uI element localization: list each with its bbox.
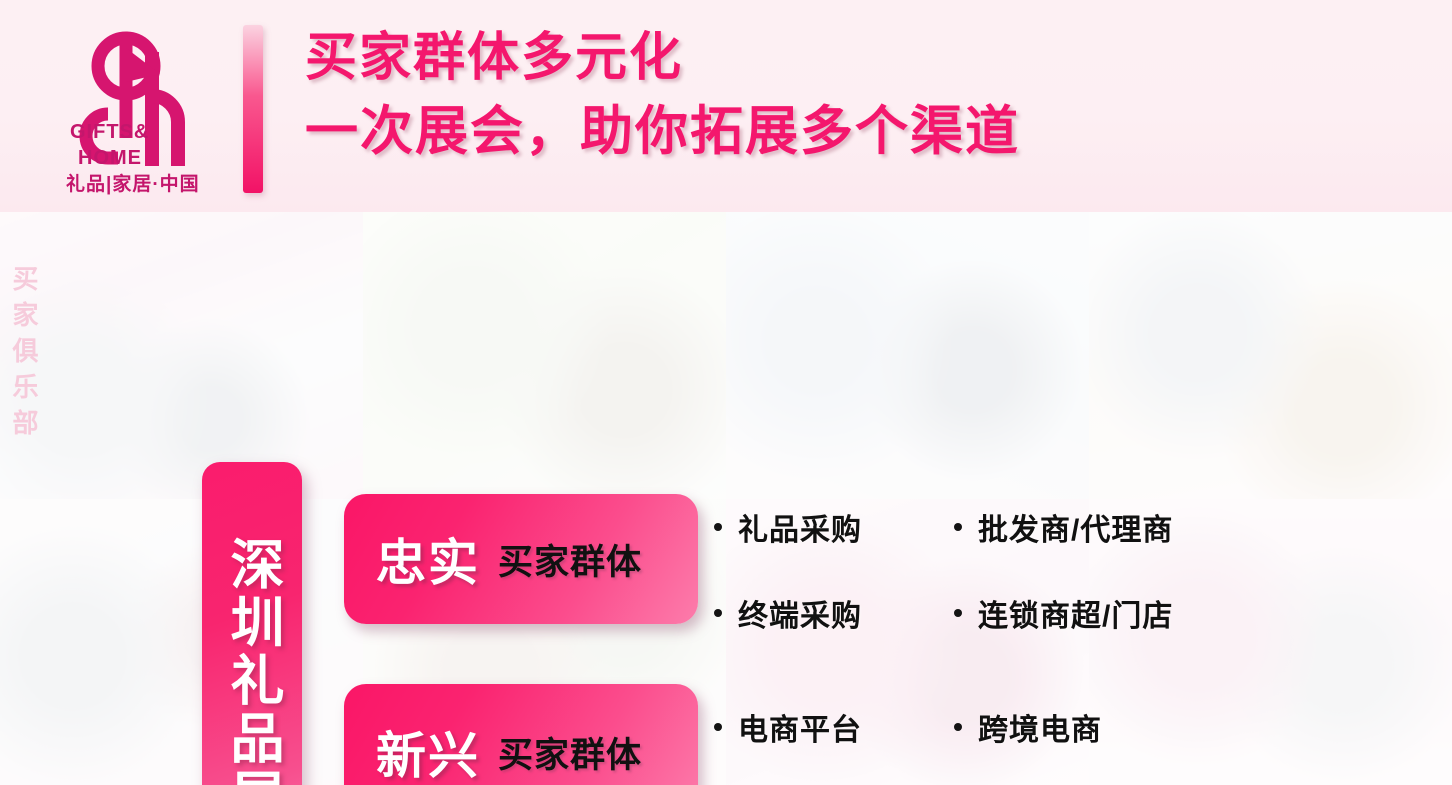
- card-emerging-buyers[interactable]: 新兴 买家群体: [344, 684, 698, 785]
- card-subtitle: 买家群体: [498, 534, 642, 585]
- bullet-item: 终端采购: [714, 591, 954, 635]
- bullet-row: 电商平台 跨境电商: [714, 684, 1214, 770]
- bullet-label: 连锁商超/门店: [978, 591, 1173, 635]
- card-keyword: 忠实: [376, 523, 480, 595]
- logo-text-cn: 礼品|家居·中国: [66, 172, 200, 195]
- bullet-item: 电商平台: [714, 705, 954, 749]
- background-photo-1: [0, 212, 363, 499]
- page-title-line-2: 一次展会，助你拓展多个渠道: [305, 100, 1020, 164]
- header-band: GIFTS& HOME 礼品|家居·中国 买家群体多元化 一次展会，助你拓展多个…: [0, 0, 1452, 212]
- page-title-line-1: 买家群体多元化: [305, 26, 1020, 90]
- card-subtitle: 买家群体: [498, 727, 642, 778]
- bullet-columns: 礼品采购 批发商/代理商 终端采购 连锁商超/门店: [714, 462, 1214, 785]
- card-loyal-buyers[interactable]: 忠实 买家群体: [344, 494, 698, 624]
- bullet-row: 终端采购 连锁商超/门店: [714, 570, 1214, 656]
- bullet-item: 连锁商超/门店: [954, 591, 1214, 635]
- background-banner-text: 买家俱乐部: [16, 230, 50, 480]
- logo-text-home: HOME: [78, 147, 142, 169]
- slide-root: GIFTS& HOME 礼品|家居·中国 买家群体多元化 一次展会，助你拓展多个…: [0, 0, 1452, 785]
- bullet-group-emerging: 电商平台 跨境电商 社群团购 直播带货: [714, 684, 1214, 785]
- bullet-row: 社群团购 直播带货: [714, 770, 1214, 785]
- background-photo-5: [0, 499, 363, 785]
- bullet-label: 礼品采购: [738, 505, 862, 549]
- bullet-item: 跨境电商: [954, 705, 1214, 749]
- header-titles: 买家群体多元化 一次展会，助你拓展多个渠道: [305, 26, 1020, 164]
- header-divider-bar: [243, 25, 263, 193]
- bullet-dot-icon: [714, 723, 722, 731]
- vertical-brand-label: 深圳礼品展: [218, 536, 286, 785]
- bullet-item: 批发商/代理商: [954, 505, 1214, 549]
- logo-mark-icon: GIFTS& HOME 礼品|家居·中国: [52, 18, 212, 196]
- bullet-label: 电商平台: [738, 705, 862, 749]
- bullet-dot-icon: [954, 609, 962, 617]
- bullet-dot-icon: [954, 723, 962, 731]
- bullet-label: 批发商/代理商: [978, 505, 1173, 549]
- bullet-dot-icon: [954, 523, 962, 531]
- background-photo-2: [363, 212, 726, 499]
- background-photo-3: [726, 212, 1089, 499]
- content-area: 买家俱乐部 深圳礼品展 忠实 买家群体 新兴 买家群体 多元 商机/合作 礼品采…: [0, 212, 1452, 785]
- gifts-home-logo: GIFTS& HOME 礼品|家居·中国: [52, 18, 212, 196]
- bullet-label: 跨境电商: [978, 705, 1102, 749]
- bullet-row: 礼品采购 批发商/代理商: [714, 484, 1214, 570]
- card-keyword: 新兴: [376, 716, 480, 785]
- bullet-dot-icon: [714, 609, 722, 617]
- bullet-dot-icon: [714, 523, 722, 531]
- bullet-item: 礼品采购: [714, 505, 954, 549]
- logo-text-gifts: GIFTS&: [70, 121, 149, 143]
- bullet-group-loyal: 礼品采购 批发商/代理商 终端采购 连锁商超/门店: [714, 484, 1214, 656]
- vertical-brand-bar: 深圳礼品展: [202, 462, 302, 785]
- background-photo-4: [1089, 212, 1452, 499]
- bullet-label: 终端采购: [738, 591, 862, 635]
